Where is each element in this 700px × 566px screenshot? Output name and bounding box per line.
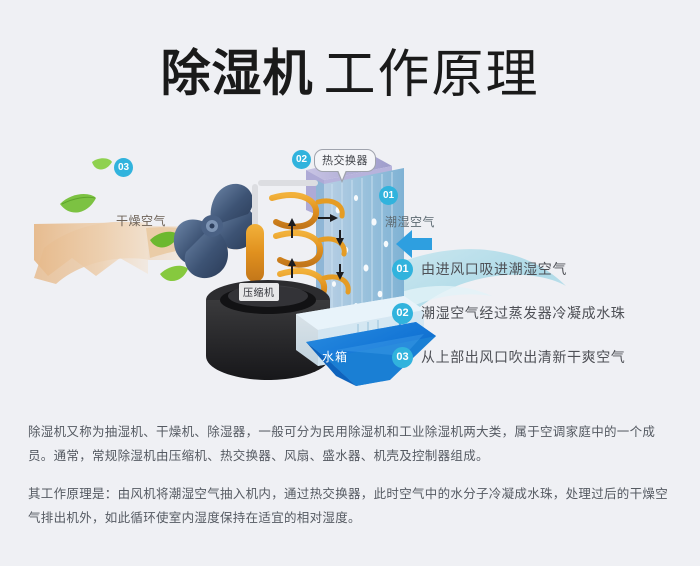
legend-label: 潮湿空气经过蒸发器冷凝成水珠: [421, 303, 625, 323]
page-title-strong: 除湿机: [160, 46, 313, 102]
page-title: 除湿机工作原理: [0, 32, 700, 107]
legend-label: 从上部出风口吹出清新干爽空气: [421, 347, 625, 367]
label-humid-air: 潮湿空气: [385, 213, 435, 230]
legend-item: 03 从上部出风口吹出清新干爽空气: [392, 344, 692, 370]
badge-heat-exchanger: 02: [292, 150, 311, 169]
callout-heat-exchanger: 热交换器: [314, 149, 376, 172]
page-title-light: 工作原理: [323, 46, 539, 104]
body-paragraph-1: 除湿机又称为抽湿机、干燥机、除湿器，一般可分为民用除湿机和工业除湿机两大类，属于…: [28, 420, 678, 468]
callout-pointer-icon: [337, 171, 347, 183]
label-dry-air: 干燥空气: [116, 212, 166, 229]
legend-badge: 01: [392, 259, 413, 280]
label-heat-exchanger: 热交换器: [322, 155, 368, 167]
badge-dry-air: 03: [114, 158, 133, 177]
fan-icon: [174, 184, 257, 278]
legend-badge: 03: [392, 347, 413, 368]
badge-humid-air: 01: [379, 186, 398, 205]
legend-label: 由进风口吸进潮湿空气: [421, 259, 567, 279]
body-copy: 除湿机又称为抽湿机、干燥机、除湿器，一般可分为民用除湿机和工业除湿机两大类，属于…: [28, 420, 678, 530]
legend-item: 01 由进风口吸进潮湿空气: [392, 256, 692, 282]
legend-item: 02 潮湿空气经过蒸发器冷凝成水珠: [392, 300, 692, 326]
body-paragraph-2: 其工作原理是：由风机将潮湿空气抽入机内，通过热交换器，此时空气中的水分子冷凝成水…: [28, 482, 678, 530]
label-water-tank: 水箱: [322, 348, 348, 365]
label-compressor: 压缩机: [239, 283, 279, 301]
legend-badge: 02: [392, 303, 413, 324]
infographic-page: 除湿机工作原理: [0, 0, 700, 566]
legend-list: 01 由进风口吸进潮湿空气 02 潮湿空气经过蒸发器冷凝成水珠 03 从上部出风…: [392, 256, 692, 388]
